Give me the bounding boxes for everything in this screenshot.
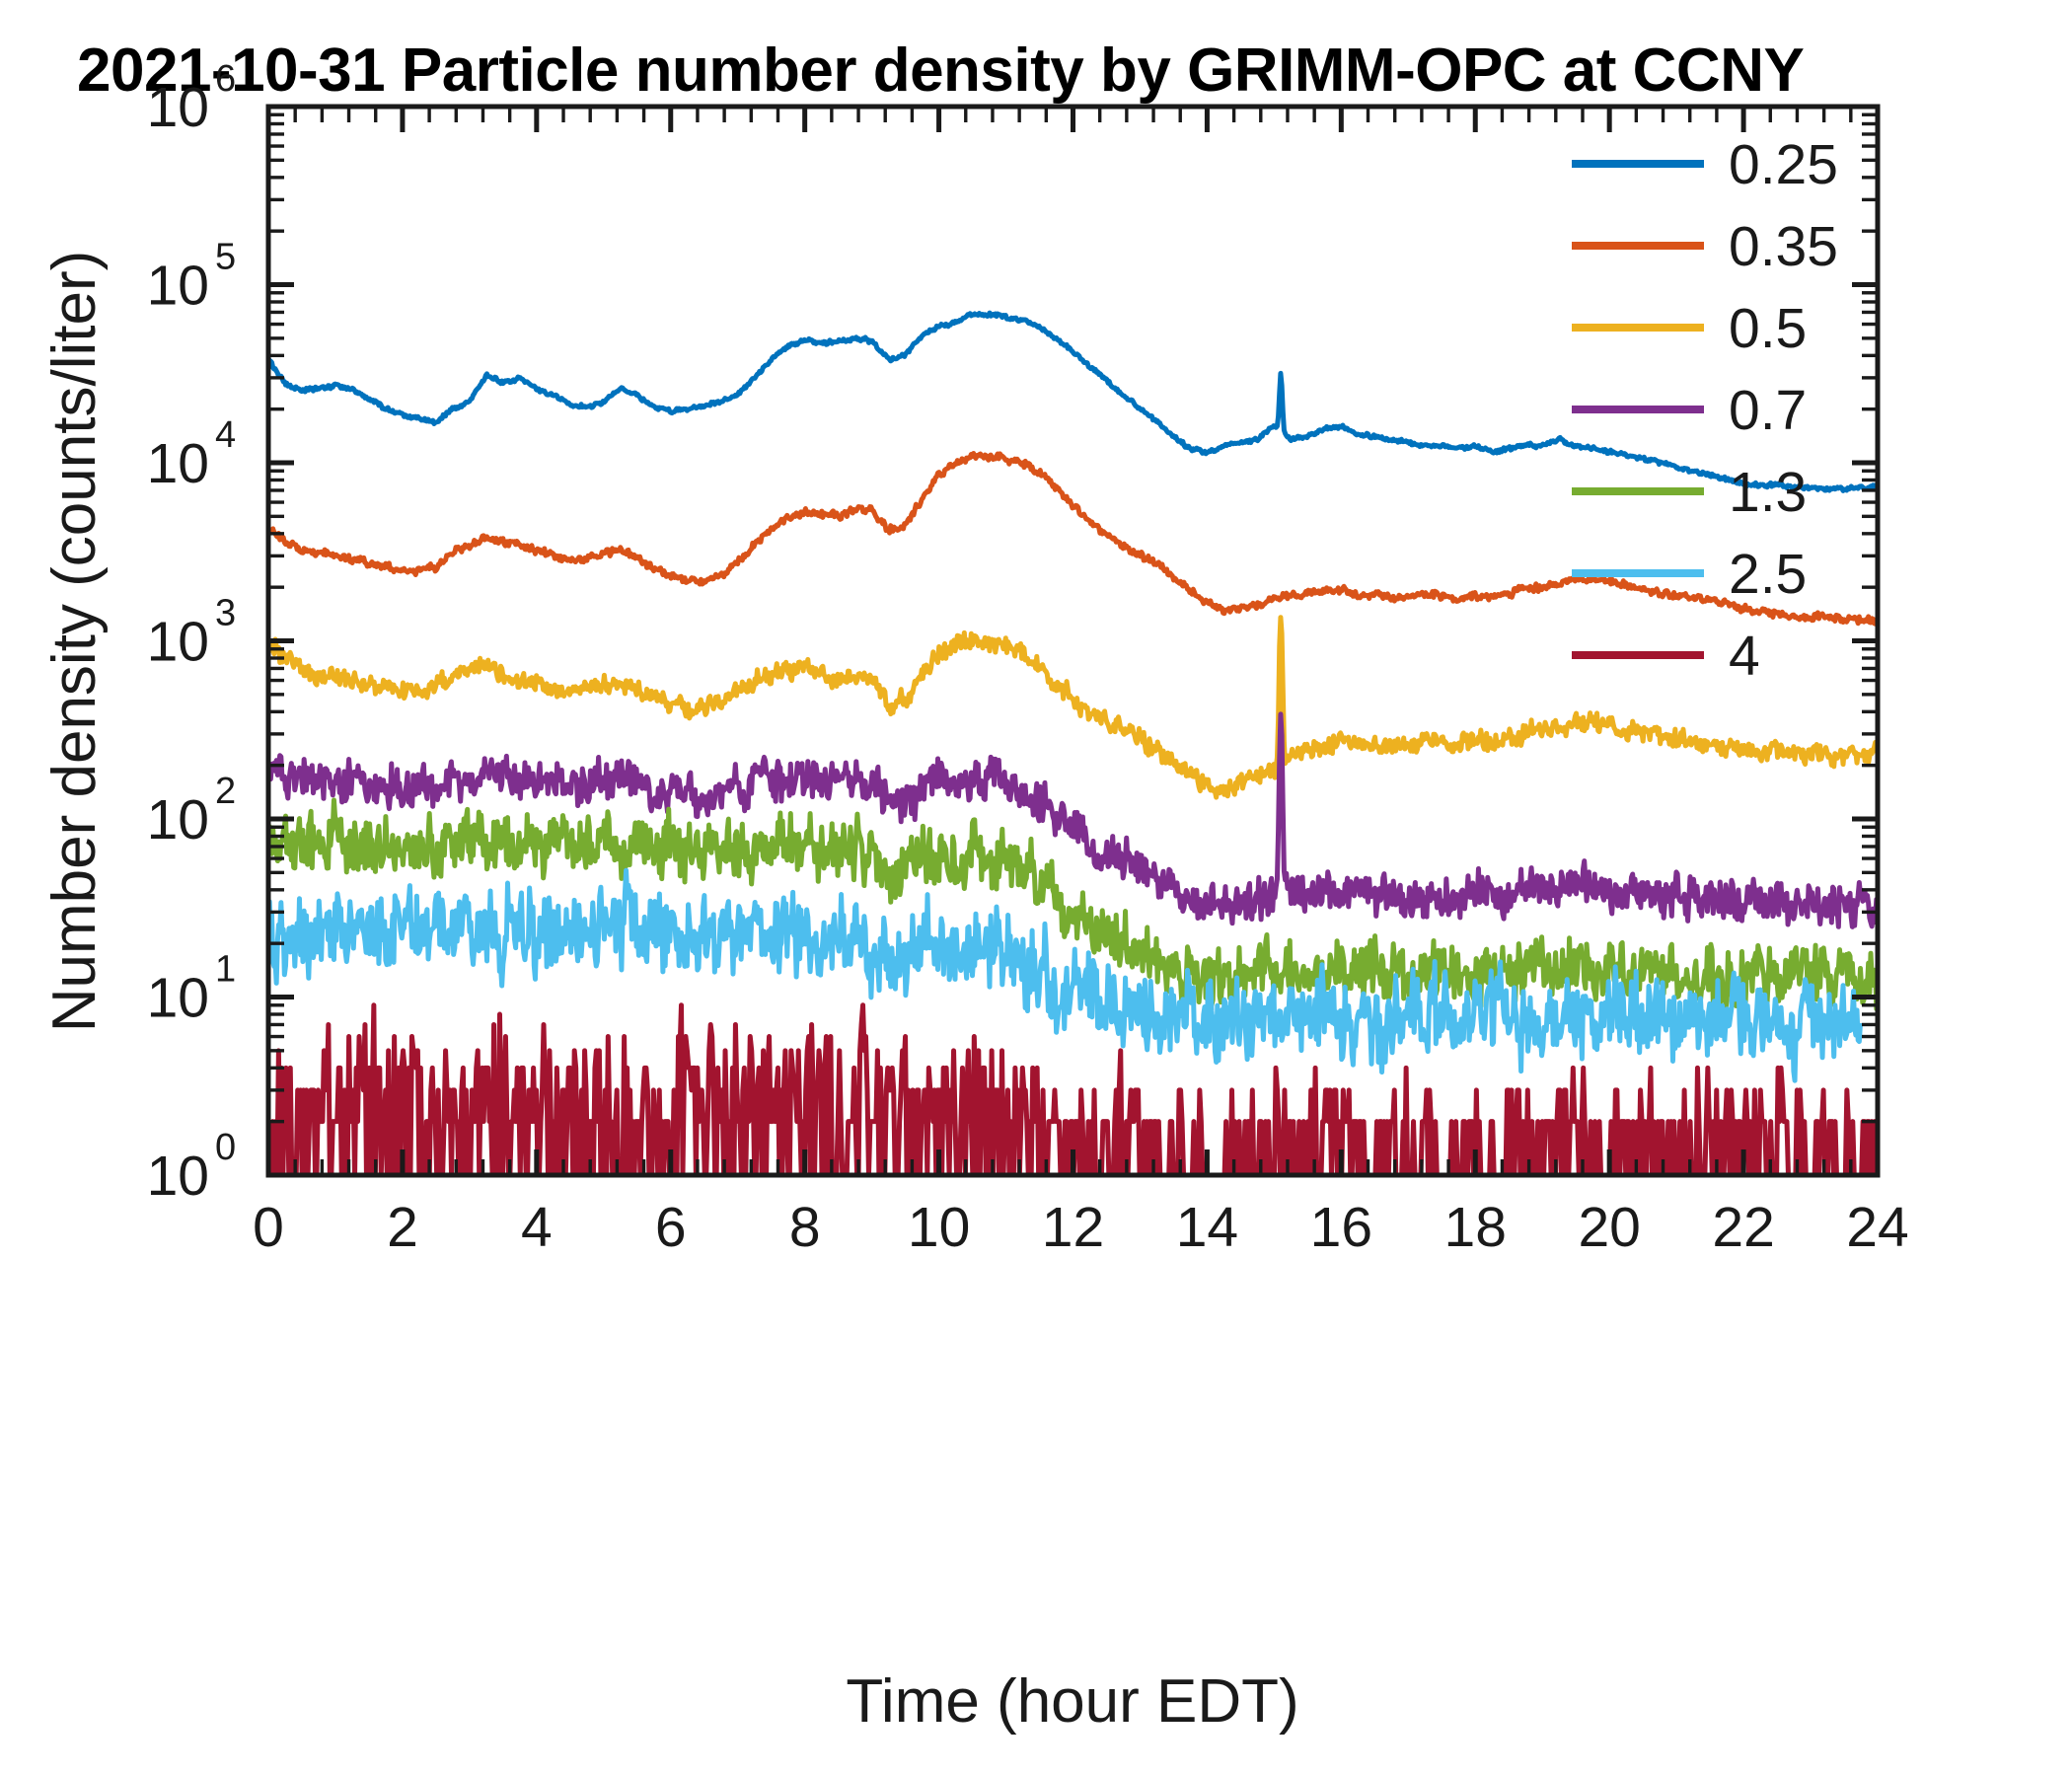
y-tick-base: 10 — [147, 611, 209, 674]
y-tick-label: 104 — [147, 414, 237, 495]
y-tick-base: 10 — [147, 432, 209, 495]
y-tick-labels: 100101102103104105106 — [147, 58, 237, 1208]
y-tick-base: 10 — [147, 76, 209, 139]
legend-label-0.25[interactable]: 0.25 — [1729, 133, 1838, 196]
y-tick-exponent: 4 — [215, 414, 236, 456]
x-tick-label: 2 — [387, 1196, 418, 1259]
y-axis-title: Number density (counts/liter) — [40, 251, 109, 1033]
y-tick-label: 103 — [147, 593, 237, 674]
legend-label-0.35[interactable]: 0.35 — [1729, 215, 1838, 278]
x-tick-label: 18 — [1444, 1196, 1507, 1259]
x-tick-label: 8 — [789, 1196, 821, 1259]
y-tick-label: 100 — [147, 1127, 237, 1208]
y-tick-label: 101 — [147, 949, 237, 1030]
x-tick-label: 24 — [1846, 1196, 1908, 1259]
legend-label-4[interactable]: 4 — [1729, 625, 1760, 688]
y-tick-exponent: 3 — [215, 593, 236, 634]
x-tick-label: 20 — [1578, 1196, 1640, 1259]
y-tick-exponent: 1 — [215, 949, 236, 991]
figure-canvas: 2021-10-31 Particle number density by GR… — [0, 0, 2072, 1776]
y-tick-exponent: 6 — [215, 58, 236, 100]
x-tick-labels: 024681012141618202224 — [253, 1196, 1909, 1259]
x-tick-label: 4 — [521, 1196, 553, 1259]
x-tick-label: 16 — [1310, 1196, 1372, 1259]
y-tick-base: 10 — [147, 1145, 209, 1208]
x-tick-label: 10 — [908, 1196, 970, 1259]
legend-label-0.7[interactable]: 0.7 — [1729, 379, 1807, 442]
y-tick-base: 10 — [147, 967, 209, 1030]
y-tick-exponent: 5 — [215, 237, 236, 278]
y-tick-exponent: 2 — [215, 771, 236, 812]
x-tick-label: 12 — [1042, 1196, 1104, 1259]
legend-label-2.5[interactable]: 2.5 — [1729, 543, 1807, 606]
y-tick-label: 102 — [147, 771, 237, 851]
y-tick-label: 105 — [147, 237, 237, 318]
x-tick-label: 6 — [655, 1196, 687, 1259]
y-tick-base: 10 — [147, 788, 209, 851]
chart-plot-area: 024681012141618202224 100101102103104105… — [0, 0, 2072, 1776]
x-tick-label: 0 — [253, 1196, 284, 1259]
y-tick-exponent: 0 — [215, 1127, 236, 1168]
legend-label-1.3[interactable]: 1.3 — [1729, 461, 1807, 524]
x-axis-title: Time (hour EDT) — [846, 1667, 1298, 1736]
y-tick-label: 106 — [147, 58, 237, 139]
legend-label-0.5[interactable]: 0.5 — [1729, 297, 1807, 360]
x-tick-label: 22 — [1712, 1196, 1774, 1259]
x-tick-label: 14 — [1176, 1196, 1238, 1259]
y-tick-base: 10 — [147, 255, 209, 318]
